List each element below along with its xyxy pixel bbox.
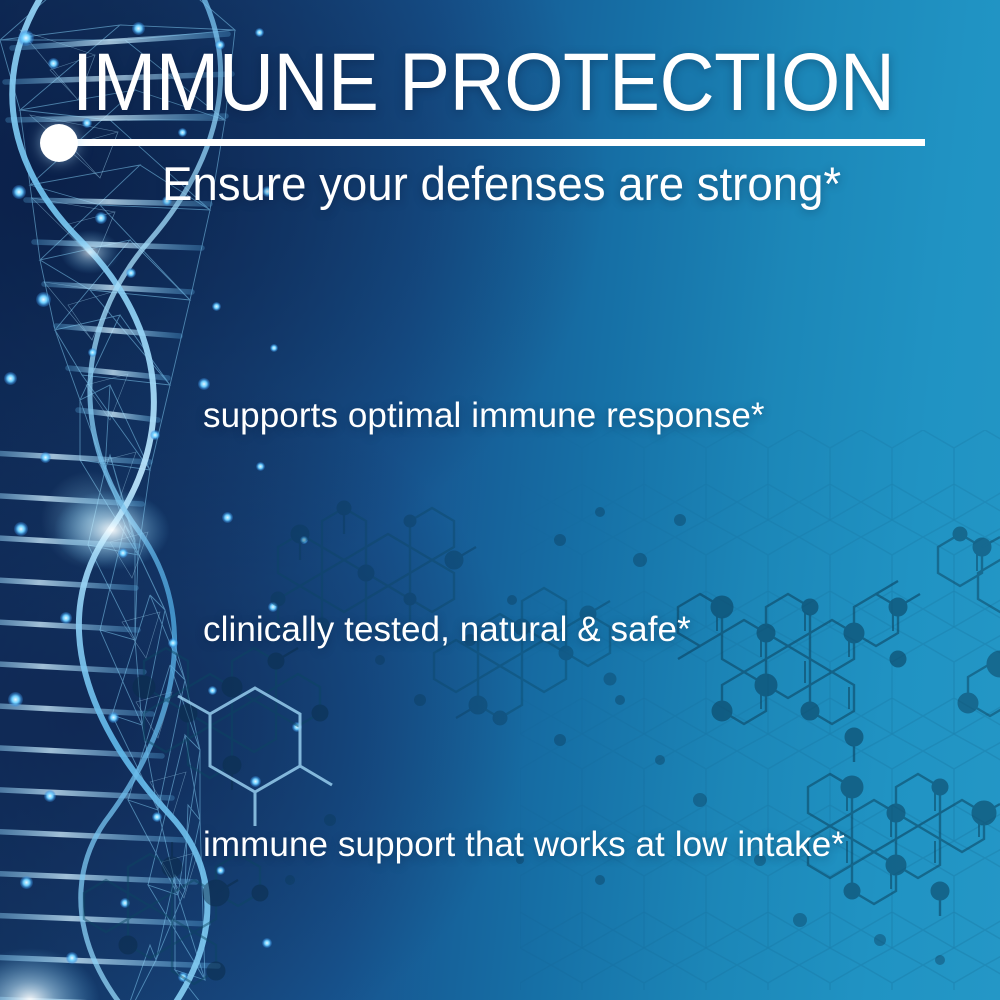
- benefit-line-3: immune support that works at low intake*: [203, 827, 845, 862]
- divider-line: [70, 139, 925, 146]
- highlight-hexagon: [178, 688, 332, 826]
- benefit-line-2: clinically tested, natural & safe*: [203, 612, 691, 647]
- immune-protection-poster: IMMUNE PROTECTION Ensure your defenses a…: [0, 0, 1000, 1000]
- honeycomb-pattern: [520, 430, 1000, 990]
- page-subtitle: Ensure your defenses are strong*: [162, 160, 957, 207]
- divider-dot: [40, 124, 78, 162]
- page-title: IMMUNE PROTECTION: [72, 42, 909, 124]
- benefit-line-1: supports optimal immune response*: [203, 398, 765, 433]
